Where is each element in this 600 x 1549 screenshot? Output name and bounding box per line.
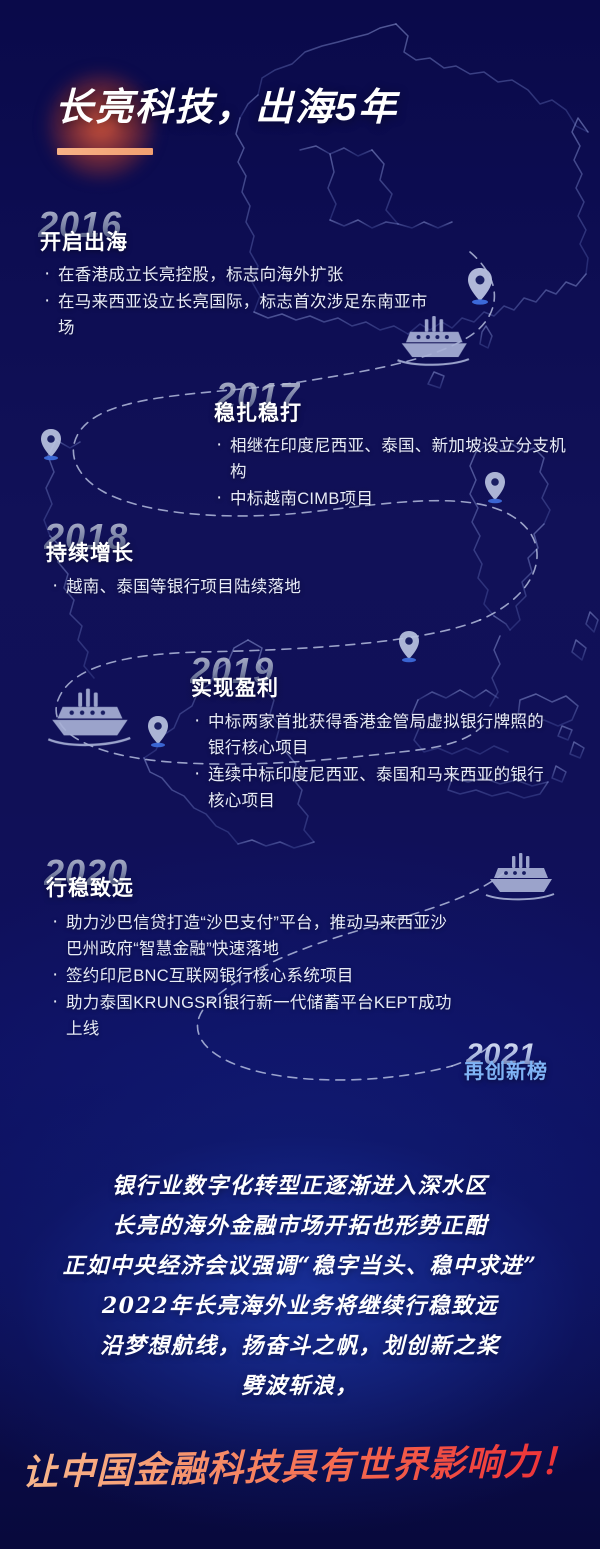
slogan-text: 让中国金融科技具有世界影响力！ [22, 1432, 577, 1496]
heading-2017: 稳扎稳打 [214, 403, 302, 424]
closing-verse: 银行业数字化转型正逐渐进入深水区 长亮的海外金融市场开拓也形势正酣 正如中央经济… [0, 1170, 600, 1410]
verse-line: 劈波斩浪， [0, 1370, 600, 1403]
list-item: 助力沙巴信贷打造“沙巴支付”平台，推动马来西亚沙巴州政府“智慧金融”快速落地 [52, 910, 452, 962]
bullet-list-2017: 相继在印度尼西亚、泰国、新加坡设立分支机构 中标越南CIMB项目 [216, 433, 576, 513]
verse-line: 正如中央经济会议强调“稳字当头、稳中求进” [0, 1250, 600, 1283]
poster-root: 长亮科技，出海5年 2016 开启出海 在香港成立长亮控股，标志向海外扩张 在马… [0, 0, 600, 1549]
heading-2019: 实现盈利 [191, 678, 279, 699]
title-underline-bar [57, 148, 153, 155]
list-item: 越南、泰国等银行项目陆续落地 [52, 574, 452, 600]
closing-slogan: 让中国金融科技具有世界影响力！ [0, 1438, 600, 1490]
list-item: 中标越南CIMB项目 [216, 486, 576, 512]
list-item: 签约印尼BNC互联网银行核心系统项目 [52, 963, 452, 989]
verse-line: 长亮的海外金融市场开拓也形势正酣 [0, 1210, 600, 1243]
bullet-list-2018: 越南、泰国等银行项目陆续落地 [52, 574, 452, 601]
list-item: 助力泰国KRUNGSRI银行新一代储蓄平台KEPT成功上线 [52, 990, 452, 1042]
verse-line: 银行业数字化转型正逐渐进入深水区 [0, 1170, 600, 1203]
page-title: 长亮科技，出海5年 [55, 86, 575, 131]
list-item: 中标两家首批获得香港金管局虚拟银行牌照的银行核心项目 [194, 709, 556, 761]
heading-2018: 持续增长 [46, 543, 134, 564]
heading-2020: 行稳致远 [46, 878, 134, 899]
bullet-list-2016: 在香港成立长亮控股，标志向海外扩张 在马来西亚设立长亮国际，标志首次涉足东南亚市… [44, 262, 444, 342]
title-block: 长亮科技，出海5年 [55, 86, 575, 131]
list-item: 在香港成立长亮控股，标志向海外扩张 [44, 262, 444, 288]
heading-2021: 再创新榜 [464, 1062, 548, 1082]
bullet-list-2020: 助力沙巴信贷打造“沙巴支付”平台，推动马来西亚沙巴州政府“智慧金融”快速落地 签… [52, 910, 452, 1043]
list-item: 连续中标印度尼西亚、泰国和马来西亚的银行核心项目 [194, 762, 556, 814]
bullet-list-2019: 中标两家首批获得香港金管局虚拟银行牌照的银行核心项目 连续中标印度尼西亚、泰国和… [194, 709, 556, 815]
list-item: 相继在印度尼西亚、泰国、新加坡设立分支机构 [216, 433, 576, 485]
heading-2016: 开启出海 [40, 232, 128, 253]
verse-line: 2022年长亮海外业务将继续行稳致远 [0, 1290, 600, 1323]
list-item: 在马来西亚设立长亮国际，标志首次涉足东南亚市场 [44, 289, 444, 341]
verse-line: 沿梦想航线，扬奋斗之帆，划创新之桨 [0, 1330, 600, 1363]
